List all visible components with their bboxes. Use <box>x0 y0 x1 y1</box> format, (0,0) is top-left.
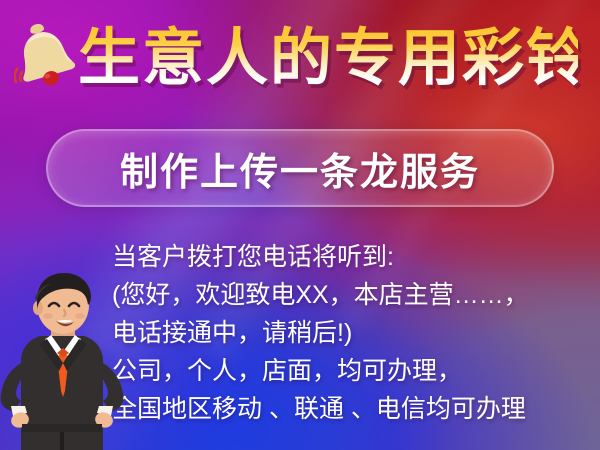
body-line: 当客户拨打您电话将听到: <box>112 238 592 276</box>
body-line: 电话接通中，请稍后!) <box>112 314 592 352</box>
promo-poster: 生意人的专用彩铃 制作上传一条龙服务 当客户拨打您电话将听到: (您好，欢迎致电… <box>0 0 600 450</box>
body-line: (您好，欢迎致电XX，本店主营……， <box>112 276 592 314</box>
subtitle-banner: 制作上传一条龙服务 <box>46 129 554 207</box>
page-title: 生意人的专用彩铃 <box>78 22 578 96</box>
businessman-illustration <box>0 272 128 450</box>
body-copy: 当客户拨打您电话将听到: (您好，欢迎致电XX，本店主营……， 电话接通中，请稍… <box>112 238 592 428</box>
subtitle-text: 制作上传一条龙服务 <box>120 141 480 196</box>
body-line: 公司，个人，店面，均可办理， <box>112 352 592 390</box>
bell-icon <box>14 24 76 90</box>
body-line: 全国地区移动 、联通 、电信均可办理 <box>112 390 592 428</box>
